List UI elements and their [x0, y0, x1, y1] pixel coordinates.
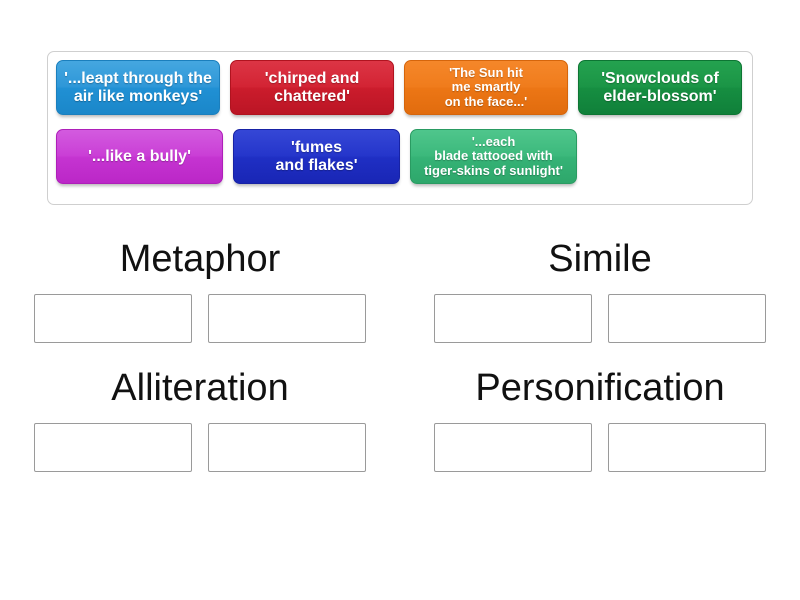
tile-leapt-through-the-air-like-monkeys[interactable]: '...leapt through the air like monkeys'	[56, 60, 220, 115]
dropzone-personification-1[interactable]	[434, 423, 592, 472]
tile-label: '...each blade tattooed with tiger-skins…	[416, 135, 571, 179]
dropzone-alliteration-1[interactable]	[34, 423, 192, 472]
dropzone-metaphor-1[interactable]	[34, 294, 192, 343]
category-title-simile: Simile	[400, 228, 800, 294]
dropzone-metaphor-2[interactable]	[208, 294, 366, 343]
tile-label: '...like a bully'	[62, 148, 217, 166]
tile-snowclouds-of-elder-blossom[interactable]: 'Snowclouds of elder-blossom'	[578, 60, 742, 115]
dropzone-alliteration-2[interactable]	[208, 423, 366, 472]
category-simile: Simile	[400, 228, 800, 343]
answer-tiles-tray: '...leapt through the air like monkeys' …	[47, 51, 753, 205]
category-row-1: Metaphor Simile	[0, 228, 800, 343]
category-personification: Personification	[400, 343, 800, 472]
dropzone-pair-personification	[400, 423, 800, 472]
category-metaphor: Metaphor	[0, 228, 400, 343]
category-title-metaphor: Metaphor	[0, 228, 400, 294]
tile-label: 'Snowclouds of elder-blossom'	[584, 70, 736, 106]
dropzone-pair-simile	[400, 294, 800, 343]
tile-chirped-and-chattered[interactable]: 'chirped and chattered'	[230, 60, 394, 115]
dropzone-simile-2[interactable]	[608, 294, 766, 343]
tile-row-2: '...like a bully' 'fumes and flakes' '..…	[56, 129, 752, 198]
tile-fumes-and-flakes[interactable]: 'fumes and flakes'	[233, 129, 400, 184]
tile-label: 'fumes and flakes'	[239, 139, 394, 175]
tile-label: 'chirped and chattered'	[236, 70, 388, 106]
dropzone-simile-1[interactable]	[434, 294, 592, 343]
dropzone-pair-metaphor	[0, 294, 400, 343]
category-row-2: Alliteration Personification	[0, 343, 800, 472]
tile-label: '...leapt through the air like monkeys'	[62, 70, 214, 106]
tile-row-1: '...leapt through the air like monkeys' …	[56, 60, 752, 129]
category-grid: Metaphor Simile Alliteration Personifica…	[0, 228, 800, 472]
category-title-alliteration: Alliteration	[0, 343, 400, 423]
tile-each-blade-tattooed-with-tiger-skins-of-sunlight[interactable]: '...each blade tattooed with tiger-skins…	[410, 129, 577, 184]
category-title-personification: Personification	[400, 343, 800, 423]
dropzone-pair-alliteration	[0, 423, 400, 472]
tile-like-a-bully[interactable]: '...like a bully'	[56, 129, 223, 184]
category-alliteration: Alliteration	[0, 343, 400, 472]
tile-the-sun-hit-me-smartly-on-the-face[interactable]: 'The Sun hit me smartly on the face...'	[404, 60, 568, 115]
tile-label: 'The Sun hit me smartly on the face...'	[410, 66, 562, 110]
dropzone-personification-2[interactable]	[608, 423, 766, 472]
